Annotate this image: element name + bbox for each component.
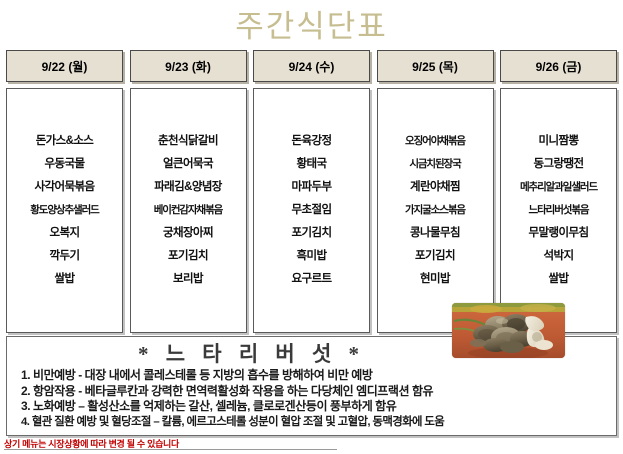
menu-item: 느타리버섯볶음: [529, 199, 589, 222]
menu-item: 황태국: [297, 153, 327, 176]
benefit-item: 4. 혈관 질환 예방 및 혈당조절 – 칼륨, 에르고스테롤 성분이 혈압 조…: [21, 415, 612, 431]
menu-item: 베이컨감자채볶음: [154, 199, 222, 222]
menu-list-tuesday: 춘천식닭갈비 얼큰어묵국 파래김&양념장 베이컨감자채볶음 궁채장아찌 포기김치…: [130, 88, 247, 333]
menu-item: 쌀밥: [549, 268, 569, 291]
weekly-meal-plan-page: 주간식단표 9/22 (월) 돈가스&소스 우동국물 사각어묵볶음 황도양상추샐…: [0, 0, 623, 454]
menu-item: 파래김&양념장: [154, 176, 222, 199]
menu-item: 메추리알과일샐러드: [520, 176, 597, 199]
footer-divider: [4, 449, 337, 450]
day-header-wednesday: 9/24 (수): [253, 50, 370, 82]
mushroom-photo-image: [452, 303, 565, 358]
oyster-mushroom-photo: [452, 303, 565, 358]
day-header-friday: 9/26 (금): [500, 50, 617, 82]
day-header-monday: 9/22 (월): [6, 50, 123, 82]
menu-item: 보리밥: [173, 268, 203, 291]
menu-item: 가지굴소스볶음: [405, 199, 465, 222]
menu-item: 콩나물무침: [410, 222, 460, 245]
menu-item: 돈육강정: [292, 130, 332, 153]
menu-item: 돈가스&소스: [36, 130, 94, 153]
mushroom-benefit-list: 1. 비만예방 - 대장 내에서 콜레스테롤 등 지방의 흡수를 방해하여 비만…: [7, 368, 616, 430]
menu-item: 오징어야채볶음: [405, 130, 465, 153]
menu-item: 깍두기: [50, 245, 80, 268]
menu-item: 마파두부: [292, 176, 332, 199]
menu-item: 계란야채찜: [410, 176, 460, 199]
menu-item: 춘천식닭갈비: [158, 130, 218, 153]
benefit-item: 1. 비만예방 - 대장 내에서 콜레스테롤 등 지방의 흡수를 방해하여 비만…: [21, 368, 612, 384]
menu-item: 미니짬뽕: [539, 130, 579, 153]
menu-item: 무말랭이무침: [529, 222, 589, 245]
week-grid: 9/22 (월) 돈가스&소스 우동국물 사각어묵볶음 황도양상추샐러드 오복지…: [6, 50, 617, 333]
page-title: 주간식단표: [0, 8, 623, 46]
menu-item: 동그랑땡전: [534, 153, 584, 176]
menu-item: 우동국물: [45, 153, 85, 176]
menu-list-friday: 미니짬뽕 동그랑땡전 메추리알과일샐러드 느타리버섯볶음 무말랭이무침 석박지 …: [500, 88, 617, 333]
day-column-thursday: 9/25 (목) 오징어야채볶음 시금치된장국 계란야채찜 가지굴소스볶음 콩나…: [377, 50, 494, 333]
menu-item: 사각어묵볶음: [35, 176, 95, 199]
menu-item: 무초절임: [292, 199, 332, 222]
menu-item: 현미밥: [420, 268, 450, 291]
menu-item: 황도양상추샐러드: [30, 199, 98, 222]
day-header-thursday: 9/25 (목): [377, 50, 494, 82]
benefit-item: 3. 노화예방 – 활성산소를 억제하는 갈산, 셀레늄, 클로로겐산등이 풍부…: [21, 399, 612, 415]
menu-item: 포기김치: [415, 245, 455, 268]
menu-list-monday: 돈가스&소스 우동국물 사각어묵볶음 황도양상추샐러드 오복지 깍두기 쌀밥: [6, 88, 123, 333]
menu-item: 포기김치: [292, 222, 332, 245]
menu-list-thursday: 오징어야채볶음 시금치된장국 계란야채찜 가지굴소스볶음 콩나물무침 포기김치 …: [377, 88, 494, 333]
menu-item: 궁채장아찌: [163, 222, 213, 245]
day-column-friday: 9/26 (금) 미니짬뽕 동그랑땡전 메추리알과일샐러드 느타리버섯볶음 무말…: [500, 50, 617, 333]
day-column-monday: 9/22 (월) 돈가스&소스 우동국물 사각어묵볶음 황도양상추샐러드 오복지…: [6, 50, 123, 333]
day-column-wednesday: 9/24 (수) 돈육강정 황태국 마파두부 무초절임 포기김치 흑미밥 요구르…: [253, 50, 370, 333]
menu-item: 흑미밥: [297, 245, 327, 268]
menu-item: 쌀밥: [55, 268, 75, 291]
menu-item: 시금치된장국: [409, 153, 460, 176]
menu-item: 오복지: [50, 222, 80, 245]
menu-item: 얼큰어묵국: [163, 153, 213, 176]
menu-item: 포기김치: [168, 245, 208, 268]
day-column-tuesday: 9/23 (화) 춘천식닭갈비 얼큰어묵국 파래김&양념장 베이컨감자채볶음 궁…: [130, 50, 247, 333]
menu-list-wednesday: 돈육강정 황태국 마파두부 무초절임 포기김치 흑미밥 요구르트: [253, 88, 370, 333]
menu-item: 석박지: [544, 245, 574, 268]
benefit-item: 2. 항암작용 - 베타글루칸과 강력한 면역력활성화 작용을 하는 다당체인 …: [21, 384, 612, 400]
menu-item: 요구르트: [292, 268, 332, 291]
day-header-tuesday: 9/23 (화): [130, 50, 247, 82]
